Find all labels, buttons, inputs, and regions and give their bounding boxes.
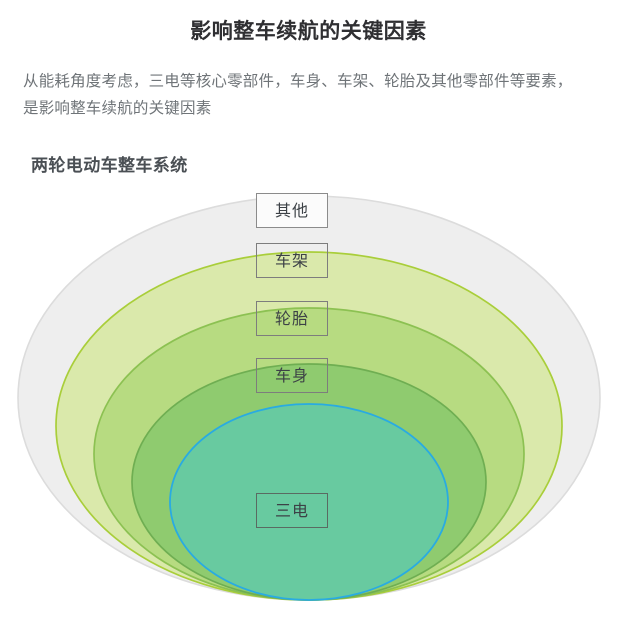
label-box-chejia[interactable]: 车架 [256, 243, 328, 278]
section-heading: 两轮电动车整车系统 [31, 151, 188, 176]
label-text-cheshen: 车身 [275, 368, 309, 384]
nested-circles-diagram: 其他 车架 轮胎 车身 三电 [0, 180, 617, 641]
label-text-qita: 其他 [275, 203, 309, 219]
page-subtitle: 从能耗角度考虑，三电等核心零部件，车身、车架、轮胎及其他零部件等要素，是影响整车… [23, 68, 579, 122]
label-box-luntai[interactable]: 轮胎 [256, 301, 328, 336]
label-box-qita[interactable]: 其他 [256, 193, 328, 228]
diagram-page: 影响整车续航的关键因素 从能耗角度考虑，三电等核心零部件，车身、车架、轮胎及其他… [0, 0, 617, 641]
label-text-chejia: 车架 [275, 253, 309, 269]
label-box-sandian[interactable]: 三电 [256, 493, 328, 528]
label-box-cheshen[interactable]: 车身 [256, 358, 328, 393]
page-title: 影响整车续航的关键因素 [0, 17, 617, 45]
label-text-sandian: 三电 [275, 503, 309, 519]
label-text-luntai: 轮胎 [275, 311, 309, 327]
